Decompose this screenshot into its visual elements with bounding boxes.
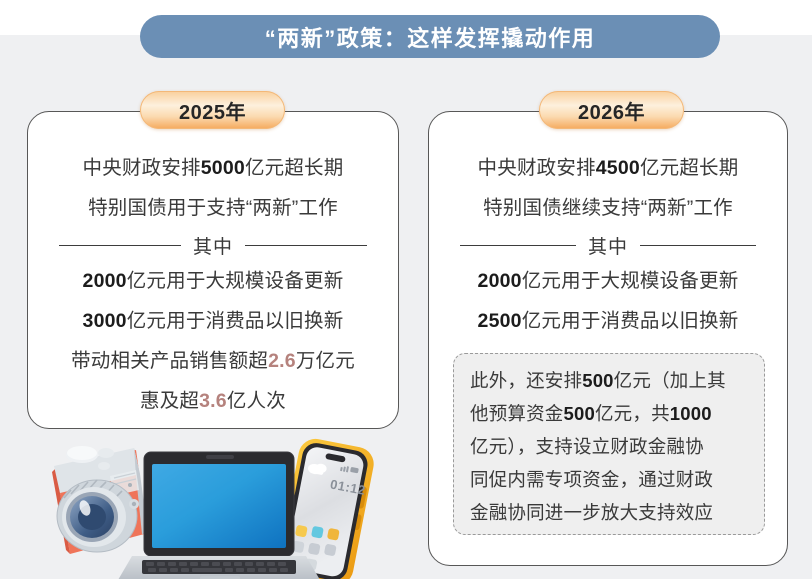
card-2026-body: 中央财政安排4500亿元超长期 特别国债继续支持“两新”工作 其中 2000亿元…	[429, 148, 787, 341]
year-badge-2025-label: 2025年	[179, 96, 246, 125]
card-2026-note-line-5: 金融协同进一步放大支持效应	[470, 496, 748, 529]
divider-rule-left	[460, 245, 576, 246]
card-2025-detail-line-2: 3000亿元用于消费品以旧换新	[42, 301, 384, 341]
card-2025-detail-line-4: 惠及超3.6亿人次	[42, 381, 384, 421]
year-badge-2025: 2025年	[140, 91, 285, 129]
laptop-icon	[116, 452, 322, 579]
divider-rule-right	[245, 245, 367, 246]
card-2025-body: 中央财政安排5000亿元超长期 特别国债用于支持“两新”工作 其中 2000亿元…	[28, 148, 398, 421]
card-2026-note-line-4: 同促内需专项资金，通过财政	[470, 463, 748, 496]
year-badge-2026: 2026年	[539, 91, 684, 129]
card-2026-note-line-2: 他预算资金500亿元，共1000	[470, 397, 748, 430]
divider-rule-left	[59, 245, 181, 246]
year-badge-2026-label: 2026年	[578, 96, 645, 125]
card-2025: 中央财政安排5000亿元超长期 特别国债用于支持“两新”工作 其中 2000亿元…	[27, 111, 399, 429]
card-2026-note-line-1: 此外，还安排500亿元（加上其	[470, 364, 748, 397]
card-2026-divider-label: 其中	[588, 232, 628, 259]
card-2025-divider: 其中	[59, 232, 367, 259]
card-2026-detail-line-2: 2500亿元用于消费品以旧换新	[443, 301, 773, 341]
divider-rule-right	[640, 245, 756, 246]
card-2026-note-line-3: 亿元），支持设立财政金融协	[470, 430, 748, 463]
page-title: “两新”政策：这样发挥撬动作用	[265, 21, 596, 53]
card-2026-divider: 其中	[460, 232, 756, 259]
card-2026-intro-line-2: 特别国债继续支持“两新”工作	[443, 188, 773, 228]
card-2026-detail-line-1: 2000亿元用于大规模设备更新	[443, 261, 773, 301]
card-2025-intro-line-2: 特别国债用于支持“两新”工作	[42, 188, 384, 228]
card-2026-intro-line-1: 中央财政安排4500亿元超长期	[443, 148, 773, 188]
page-title-banner: “两新”政策：这样发挥撬动作用	[140, 15, 720, 58]
card-2026: 中央财政安排4500亿元超长期 特别国债继续支持“两新”工作 其中 2000亿元…	[428, 111, 788, 566]
card-2025-detail-line-3: 带动相关产品销售额超2.6万亿元	[42, 341, 384, 381]
card-2025-intro-line-1: 中央财政安排5000亿元超长期	[42, 148, 384, 188]
devices-illustration: 01:12	[40, 428, 412, 579]
card-2026-note-box: 此外，还安排500亿元（加上其 他预算资金500亿元，共1000 亿元），支持设…	[453, 353, 765, 535]
card-2025-detail-line-1: 2000亿元用于大规模设备更新	[42, 261, 384, 301]
camera-icon	[52, 446, 148, 554]
card-2025-divider-label: 其中	[193, 232, 233, 259]
